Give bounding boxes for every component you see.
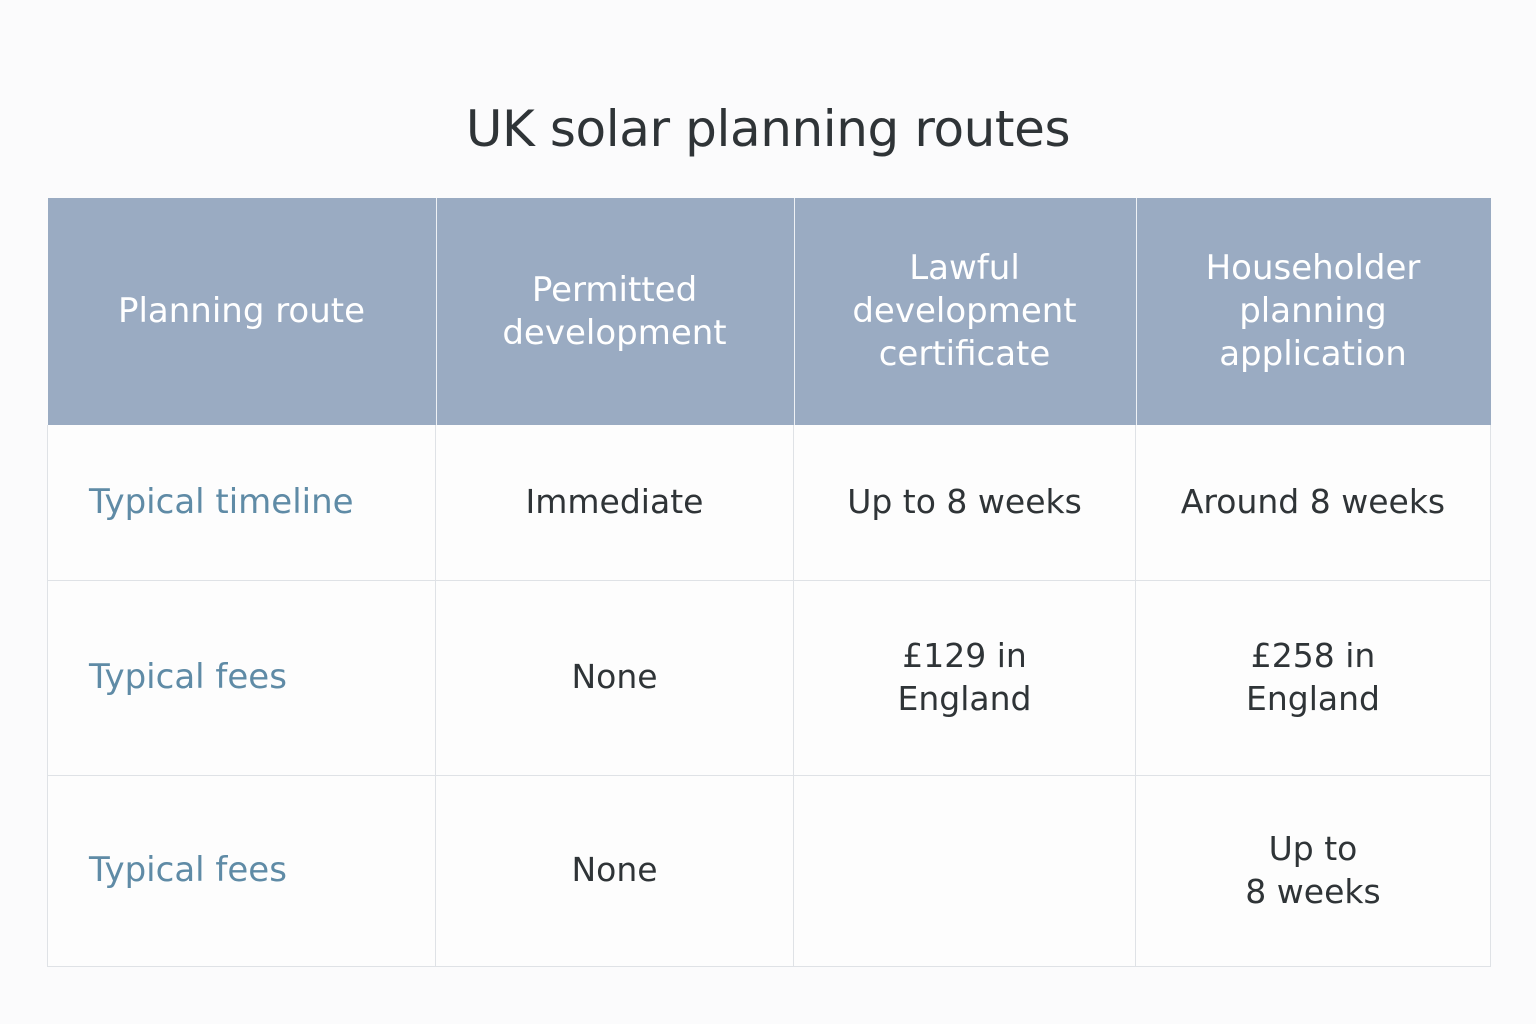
cell-typical-fees-2-permitted-development: None (436, 775, 794, 966)
column-header-householder-planning-application-line2: planning (1150, 290, 1477, 333)
planning-routes-table: Planning route Permitted development Law… (47, 198, 1491, 967)
column-header-planning-route-label: Planning route (62, 290, 422, 333)
cell-typical-fees-2-householder-planning-application: Up to 8 weeks (1136, 775, 1491, 966)
column-header-lawful-development-certificate-line1: Lawful (808, 247, 1122, 290)
table-row: Typical timeline Immediate Up to 8 weeks… (48, 425, 1491, 580)
column-header-planning-route: Planning route (48, 198, 436, 425)
column-header-lawful-development-certificate: Lawful development certificate (794, 198, 1136, 425)
cell-typical-timeline-householder-planning-application: Around 8 weeks (1136, 425, 1491, 580)
column-header-permitted-development: Permitted development (436, 198, 794, 425)
cell-typical-fees-2-householder-planning-application-line2: 8 weeks (1150, 871, 1476, 914)
cell-typical-fees-1-lawful-development-certificate: £129 in England (794, 580, 1136, 775)
column-header-lawful-development-certificate-line2: development (808, 290, 1122, 333)
cell-typical-fees-1-lawful-development-certificate-line2: England (808, 678, 1121, 721)
cell-typical-timeline-lawful-development-certificate: Up to 8 weeks (794, 425, 1136, 580)
column-header-lawful-development-certificate-line3: certificate (808, 333, 1122, 376)
cell-typical-fees-1-householder-planning-application: £258 in England (1136, 580, 1491, 775)
cell-typical-fees-1-lawful-development-certificate-line1: £129 in (808, 635, 1121, 678)
cell-typical-fees-2-householder-planning-application-line1: Up to (1150, 828, 1476, 871)
column-header-householder-planning-application-line3: application (1150, 333, 1477, 376)
column-header-permitted-development-line2: development (450, 312, 780, 355)
column-header-householder-planning-application-line1: Householder (1150, 247, 1477, 290)
column-header-permitted-development-line1: Permitted (450, 269, 780, 312)
row-label-typical-timeline: Typical timeline (48, 425, 436, 580)
cell-typical-fees-2-lawful-development-certificate (794, 775, 1136, 966)
row-label-typical-fees-2: Typical fees (48, 775, 436, 966)
table-row: Typical fees None £129 in England £258 i… (48, 580, 1491, 775)
table-header: Planning route Permitted development Law… (48, 198, 1491, 425)
table-body: Typical timeline Immediate Up to 8 weeks… (48, 425, 1491, 966)
page-title: UK solar planning routes (0, 102, 1536, 157)
cell-typical-fees-1-householder-planning-application-line2: England (1150, 678, 1476, 721)
cell-typical-fees-1-householder-planning-application-line1: £258 in (1150, 635, 1476, 678)
cell-typical-timeline-permitted-development: Immediate (436, 425, 794, 580)
cell-typical-fees-1-permitted-development: None (436, 580, 794, 775)
table-header-row: Planning route Permitted development Law… (48, 198, 1491, 425)
row-label-typical-fees-1: Typical fees (48, 580, 436, 775)
column-header-householder-planning-application: Householder planning application (1136, 198, 1491, 425)
table-row: Typical fees None Up to 8 weeks (48, 775, 1491, 966)
